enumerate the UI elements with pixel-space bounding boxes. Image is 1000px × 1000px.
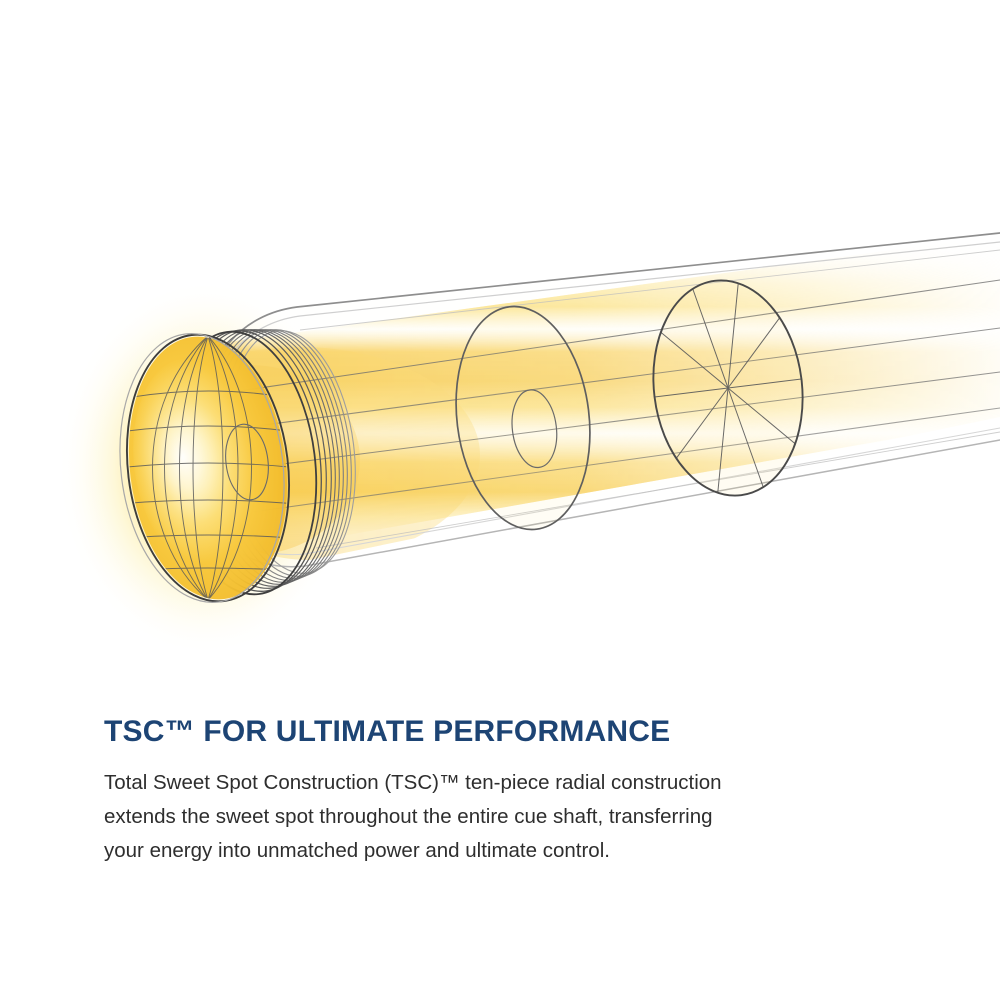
tsc-cue-shaft-illustration bbox=[0, 0, 1000, 680]
description-line-3: your energy into unmatched power and ult… bbox=[104, 834, 904, 868]
feature-panel: TSC™ FOR ULTIMATE PERFORMANCE Total Swee… bbox=[0, 0, 1000, 1000]
description-line-1: Total Sweet Spot Construction (TSC)™ ten… bbox=[104, 766, 904, 800]
feature-title: TSC™ FOR ULTIMATE PERFORMANCE bbox=[104, 712, 924, 752]
cue-shaft-diagram bbox=[0, 0, 1000, 680]
feature-caption: TSC™ FOR ULTIMATE PERFORMANCE Total Swee… bbox=[104, 712, 924, 868]
feature-description: Total Sweet Spot Construction (TSC)™ ten… bbox=[104, 766, 904, 868]
description-line-2: extends the sweet spot throughout the en… bbox=[104, 800, 904, 834]
